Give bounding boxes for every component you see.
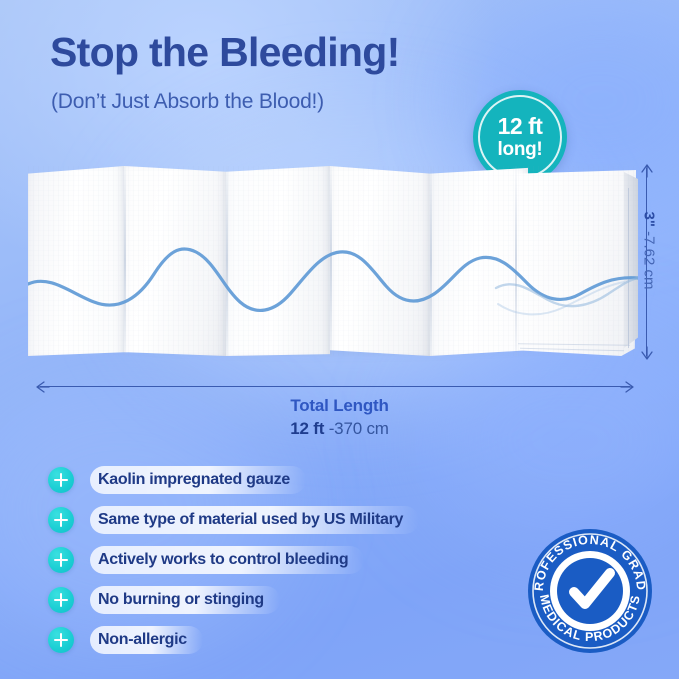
plus-icon — [48, 627, 74, 653]
feature-item-1: Kaolin impregnated gauze — [48, 460, 419, 500]
plus-icon — [48, 467, 74, 493]
feature-item-2: Same type of material used by US Militar… — [48, 500, 419, 540]
arrow-down-icon — [640, 346, 654, 360]
gauze-panel-1 — [28, 166, 124, 356]
length-badge-text: 12 ft long! — [498, 115, 543, 159]
gauze-fold-1 — [124, 166, 126, 356]
infographic-canvas: Stop the Bleeding! (Don’t Just Absorb th… — [0, 0, 679, 679]
feature-item-4: No burning or stinging — [48, 580, 419, 620]
gauze-fold-3 — [330, 166, 332, 356]
gauze-folded-stack — [514, 170, 636, 356]
feature-pill-5: Non-allergic — [90, 626, 203, 654]
feature-label-4: No burning or stinging — [98, 591, 264, 609]
feature-pill-2: Same type of material used by US Militar… — [90, 506, 419, 534]
gauze-panel-2 — [124, 166, 226, 356]
length-badge-line1: 12 ft — [498, 115, 543, 138]
gauze-fold-5 — [515, 166, 517, 356]
gauze-panel-5 — [430, 166, 528, 356]
gauze-panel-4 — [330, 166, 430, 356]
plus-icon — [48, 587, 74, 613]
gauze-stack-line-3 — [628, 188, 629, 348]
gauze-fold-4 — [430, 166, 432, 356]
feature-list: Kaolin impregnated gauze Same type of ma… — [48, 460, 419, 660]
gauze-stack-edge — [624, 172, 638, 348]
page-title: Stop the Bleeding! — [50, 31, 400, 74]
feature-pill-1: Kaolin impregnated gauze — [90, 466, 306, 494]
dimension-height: 3" -7.62 cm — [638, 168, 640, 356]
plus-icon — [48, 547, 74, 573]
feature-label-5: Non-allergic — [98, 631, 187, 649]
dimension-length-value-row: 12 ft -370 cm — [0, 419, 679, 439]
dimension-height-unit: -7.62 cm — [641, 227, 658, 290]
dimension-length-line — [40, 386, 630, 387]
arrow-up-icon — [640, 164, 654, 178]
gauze-fold-2 — [226, 166, 228, 356]
feature-label-3: Actively works to control bleeding — [98, 551, 348, 569]
page-subtitle: (Don’t Just Absorb the Blood!) — [51, 90, 324, 114]
feature-pill-3: Actively works to control bleeding — [90, 546, 364, 574]
feature-item-5: Non-allergic — [48, 620, 419, 660]
plus-icon — [48, 507, 74, 533]
dimension-length-value: 12 ft — [290, 419, 324, 438]
length-badge-line2: long! — [498, 140, 543, 159]
professional-grade-seal: PROFESSIONAL GRADE MEDICAL PRODUCTS — [527, 528, 653, 654]
arrow-left-icon — [36, 380, 50, 394]
feature-label-2: Same type of material used by US Militar… — [98, 511, 403, 529]
dimension-length-labels: Total Length 12 ft -370 cm — [0, 396, 679, 439]
feature-pill-4: No burning or stinging — [90, 586, 280, 614]
background-glow-2 — [420, 330, 679, 550]
dimension-length-unit: -370 cm — [324, 419, 389, 438]
dimension-length — [40, 380, 630, 394]
dimension-height-label: 3" -7.62 cm — [641, 212, 658, 258]
arrow-right-icon — [620, 380, 634, 394]
feature-item-3: Actively works to control bleeding — [48, 540, 419, 580]
gauze-panel-3 — [226, 166, 330, 356]
product-image-gauze — [28, 166, 638, 356]
dimension-height-value: 3" — [641, 212, 658, 227]
feature-label-1: Kaolin impregnated gauze — [98, 471, 290, 489]
dimension-length-title: Total Length — [0, 396, 679, 416]
